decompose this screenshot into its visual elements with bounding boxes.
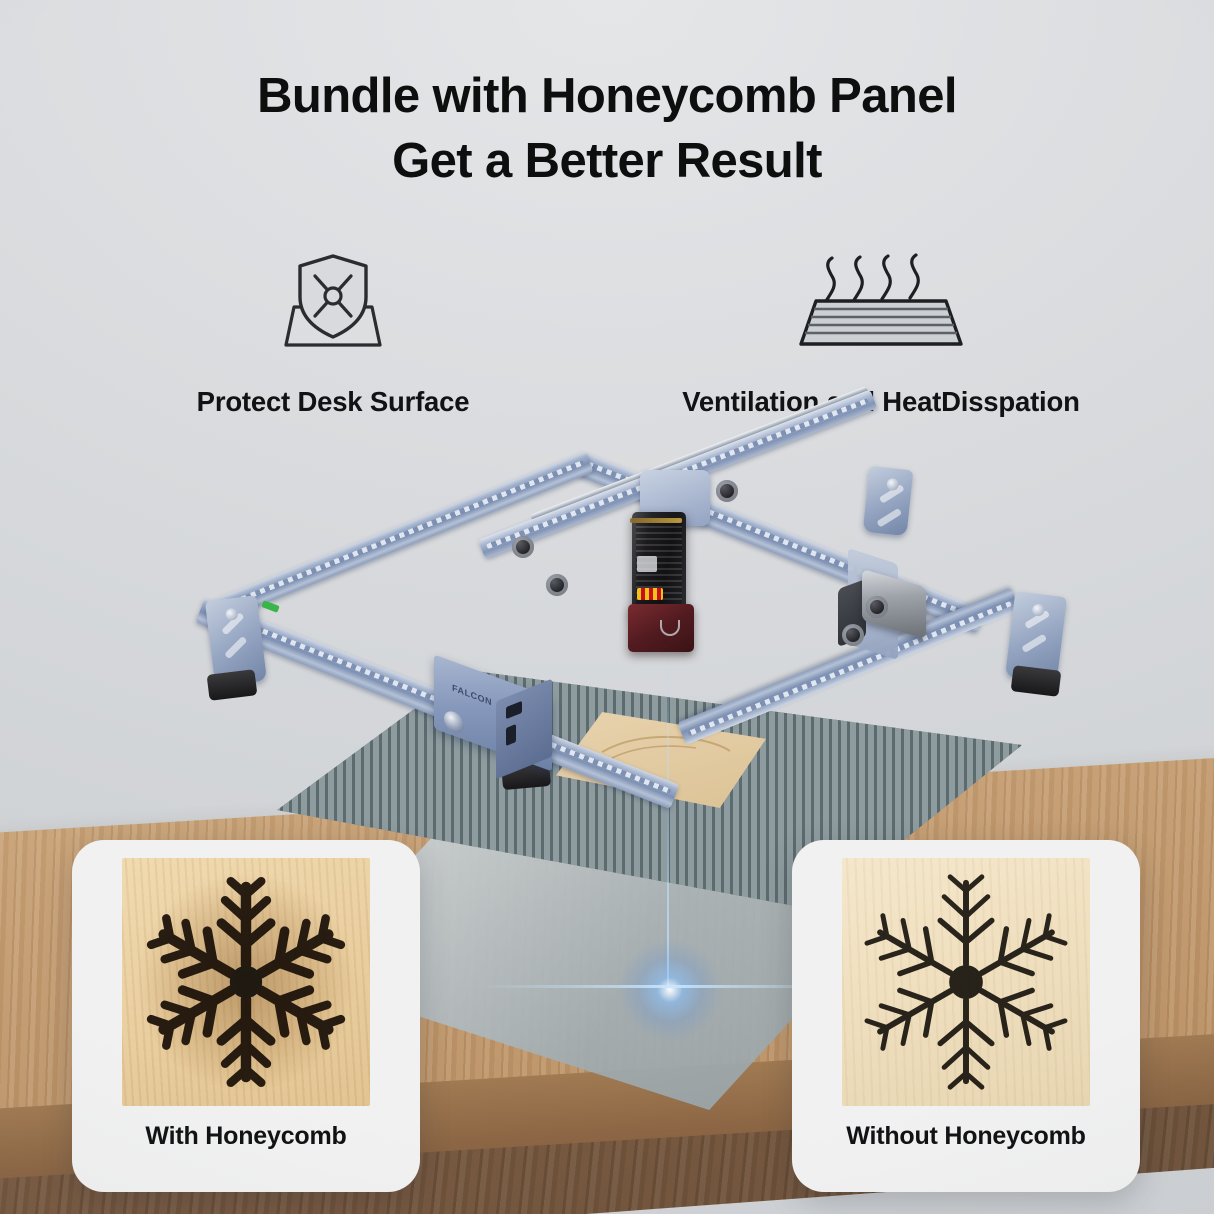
belt-pulley [716,480,738,502]
sample-with-honeycomb [122,858,370,1106]
laser-head-band [630,518,682,523]
corner-bracket [863,466,914,536]
sample-without-honeycomb [842,858,1090,1106]
snowflake-engraving [122,858,370,1106]
laser-head-spec-label [637,556,657,572]
green-indicator-sticker [261,600,279,613]
belt-pulley [866,596,888,618]
comparison-card-without-honeycomb: Without Honeycomb [792,840,1140,1192]
product-marketing-image: Bundle with Honeycomb Panel Get a Better… [0,0,1214,1214]
comparison-card-with-honeycomb: With Honeycomb [72,840,420,1192]
card-label: Without Honeycomb [846,1122,1085,1151]
card-label: With Honeycomb [145,1122,346,1151]
belt-pulley [546,574,568,596]
belt-pulley [512,536,534,558]
snowflake-engraving [842,858,1090,1106]
machine-foot [1011,665,1062,697]
machine-foot [207,669,258,701]
laser-warning-label [637,588,663,600]
belt-pulley [842,624,864,646]
